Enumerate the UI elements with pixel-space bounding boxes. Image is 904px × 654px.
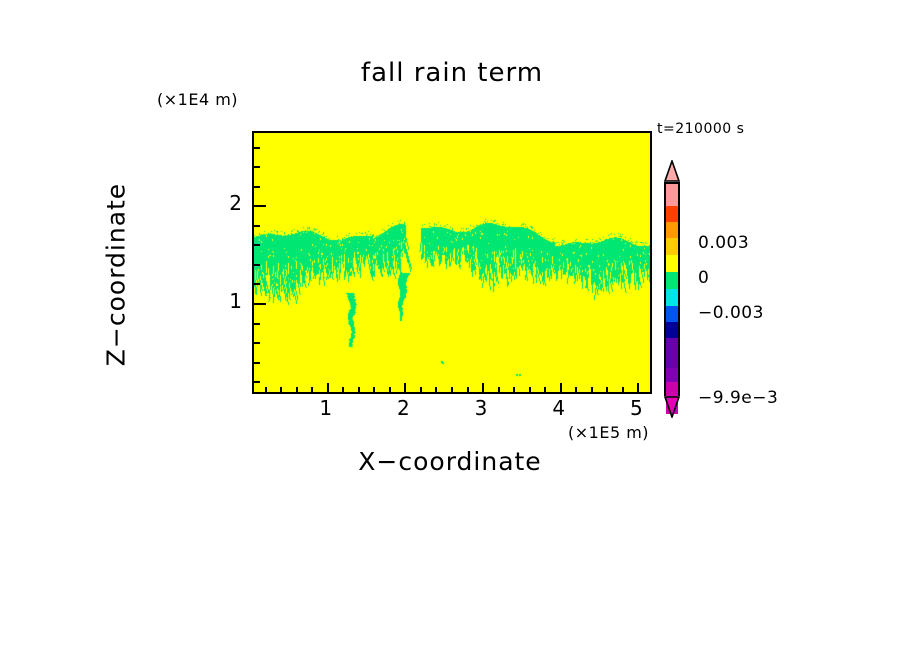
x-tick-label: 4 bbox=[544, 396, 574, 420]
y-tick-minor bbox=[254, 186, 260, 188]
x-tick-minor bbox=[389, 387, 391, 392]
x-tick-minor bbox=[296, 387, 298, 392]
y-tick-minor bbox=[254, 264, 260, 266]
y-axis-title: Z−coordinate bbox=[102, 145, 131, 405]
contour-field-canvas bbox=[254, 133, 650, 392]
time-annotation: t=210000 s bbox=[657, 121, 744, 137]
y-tick-minor bbox=[254, 244, 260, 246]
y-axis-unit-label: (×1E4 m) bbox=[157, 90, 238, 109]
colorbar-segment bbox=[666, 368, 678, 383]
x-tick-minor bbox=[498, 387, 500, 392]
colorbar-segment bbox=[666, 222, 678, 239]
colorbar-label-minimum: −9.9e−3 bbox=[698, 388, 778, 408]
x-tick-major bbox=[404, 383, 406, 392]
colorbar-segments bbox=[664, 182, 680, 396]
x-tick-major bbox=[560, 383, 562, 392]
y-tick-label: 1 bbox=[212, 289, 242, 313]
x-tick-label: 2 bbox=[388, 396, 418, 420]
x-tick-minor bbox=[420, 387, 422, 392]
x-tick-minor bbox=[575, 387, 577, 392]
y-tick-minor bbox=[254, 323, 260, 325]
y-tick-minor bbox=[254, 166, 260, 168]
colorbar-segment bbox=[666, 272, 678, 290]
x-tick-minor bbox=[591, 387, 593, 392]
x-tick-label: 1 bbox=[311, 396, 341, 420]
y-tick-major bbox=[254, 303, 266, 305]
colorbar-segment bbox=[666, 322, 678, 339]
x-tick-major bbox=[327, 383, 329, 392]
page-title: fall rain term bbox=[0, 58, 904, 88]
x-axis-title: X−coordinate bbox=[252, 447, 648, 476]
colorbar bbox=[664, 160, 680, 418]
colorbar-segment bbox=[666, 206, 678, 223]
x-tick-minor bbox=[280, 387, 282, 392]
colorbar-segment bbox=[666, 338, 678, 369]
x-tick-minor bbox=[451, 387, 453, 392]
y-tick-minor bbox=[254, 225, 260, 227]
x-tick-minor bbox=[622, 387, 624, 392]
colorbar-over-arrow-icon bbox=[664, 160, 680, 182]
x-tick-major bbox=[482, 383, 484, 392]
x-tick-label: 3 bbox=[466, 396, 496, 420]
x-tick-minor bbox=[435, 387, 437, 392]
y-tick-minor bbox=[254, 381, 260, 383]
colorbar-segment bbox=[666, 306, 678, 323]
colorbar-segment bbox=[666, 184, 678, 207]
colorbar-segment bbox=[666, 255, 678, 273]
colorbar-segment bbox=[666, 289, 678, 307]
colorbar-label-negative: −0.003 bbox=[698, 303, 764, 323]
x-tick-minor bbox=[606, 387, 608, 392]
plot-area bbox=[252, 131, 652, 394]
x-tick-minor bbox=[311, 387, 313, 392]
y-tick-major bbox=[254, 205, 266, 207]
colorbar-segment bbox=[666, 238, 678, 256]
colorbar-under-arrow-icon bbox=[664, 396, 680, 418]
y-tick-minor bbox=[254, 342, 260, 344]
y-tick-label: 2 bbox=[212, 191, 242, 215]
y-tick-minor bbox=[254, 147, 260, 149]
x-tick-minor bbox=[513, 387, 515, 392]
y-tick-minor bbox=[254, 362, 260, 364]
x-tick-minor bbox=[373, 387, 375, 392]
colorbar-label-upper: 0.003 bbox=[698, 233, 749, 253]
x-tick-minor bbox=[467, 387, 469, 392]
x-tick-major bbox=[637, 383, 639, 392]
x-tick-minor bbox=[529, 387, 531, 392]
x-axis-unit-label: (×1E5 m) bbox=[568, 423, 649, 442]
x-tick-minor bbox=[544, 387, 546, 392]
x-tick-minor bbox=[265, 387, 267, 392]
colorbar-label-zero: 0 bbox=[698, 268, 709, 288]
x-tick-label: 5 bbox=[621, 396, 651, 420]
x-tick-minor bbox=[342, 387, 344, 392]
x-tick-minor bbox=[358, 387, 360, 392]
y-tick-minor bbox=[254, 283, 260, 285]
